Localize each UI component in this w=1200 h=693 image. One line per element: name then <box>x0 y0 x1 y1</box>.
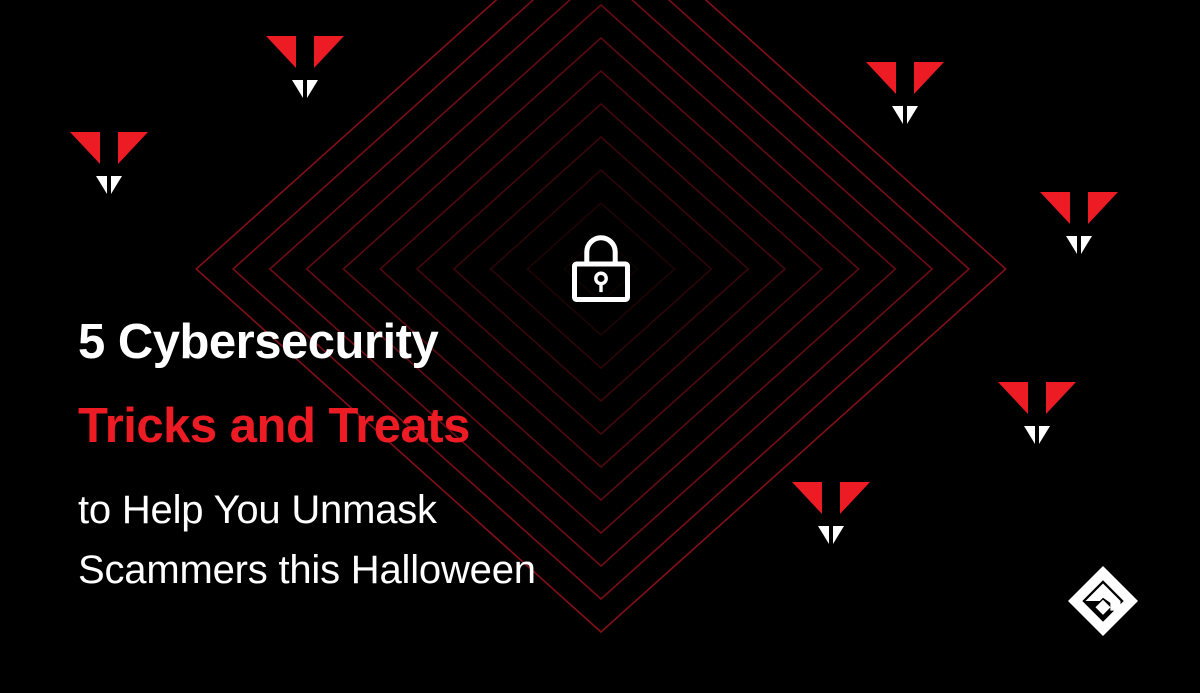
brand-logo-layer <box>0 0 1200 693</box>
brand-diamond-logo <box>1068 566 1138 636</box>
halloween-cybersecurity-banner: 5 Cybersecurity Tricks and Treats to Hel… <box>0 0 1200 693</box>
brand-logo-svg <box>0 0 1200 693</box>
logo-inner-diamond <box>1095 600 1110 615</box>
